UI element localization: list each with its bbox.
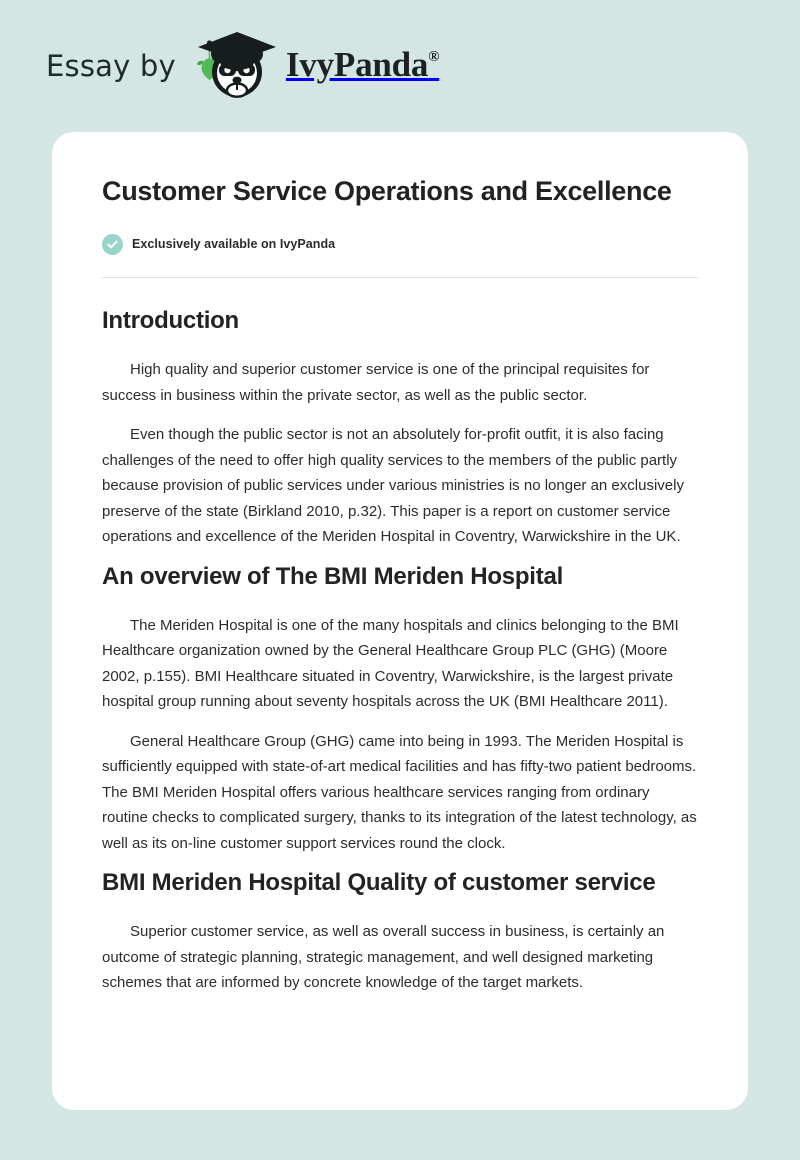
exclusive-badge: Exclusively available on IvyPanda	[102, 234, 698, 255]
check-circle-icon	[102, 234, 123, 255]
section-introduction: Introduction High quality and superior c…	[102, 304, 698, 550]
section-heading: Introduction	[102, 304, 698, 337]
exclusive-badge-label: Exclusively available on IvyPanda	[132, 237, 335, 251]
ivypanda-logo-link[interactable]: IvyPanda®	[190, 30, 439, 102]
paragraph: General Healthcare Group (GHG) came into…	[102, 729, 698, 857]
section-heading: An overview of The BMI Meriden Hospital	[102, 560, 698, 593]
registered-trademark-symbol: ®	[428, 49, 439, 65]
essay-card: Customer Service Operations and Excellen…	[52, 132, 748, 1110]
paragraph: Superior customer service, as well as ov…	[102, 919, 698, 996]
wordmark-text: IvyPanda	[286, 45, 428, 84]
section-overview-bmi-meriden-hospital: An overview of The BMI Meriden Hospital …	[102, 560, 698, 857]
title-divider	[102, 277, 698, 278]
brand-header: Essay by	[0, 0, 800, 132]
section-spacer	[102, 550, 698, 560]
paragraph: The Meriden Hospital is one of the many …	[102, 613, 698, 715]
ivypanda-wordmark: IvyPanda®	[286, 47, 439, 82]
paragraph: Even though the public sector is not an …	[102, 422, 698, 550]
section-heading: BMI Meriden Hospital Quality of customer…	[102, 866, 698, 899]
paragraph: High quality and superior customer servi…	[102, 357, 698, 408]
page-title: Customer Service Operations and Excellen…	[102, 174, 698, 210]
section-quality-of-customer-service: BMI Meriden Hospital Quality of customer…	[102, 866, 698, 996]
essay-by-label: Essay by	[46, 52, 176, 81]
section-spacer	[102, 856, 698, 866]
panda-graduate-logo-icon	[190, 30, 284, 102]
